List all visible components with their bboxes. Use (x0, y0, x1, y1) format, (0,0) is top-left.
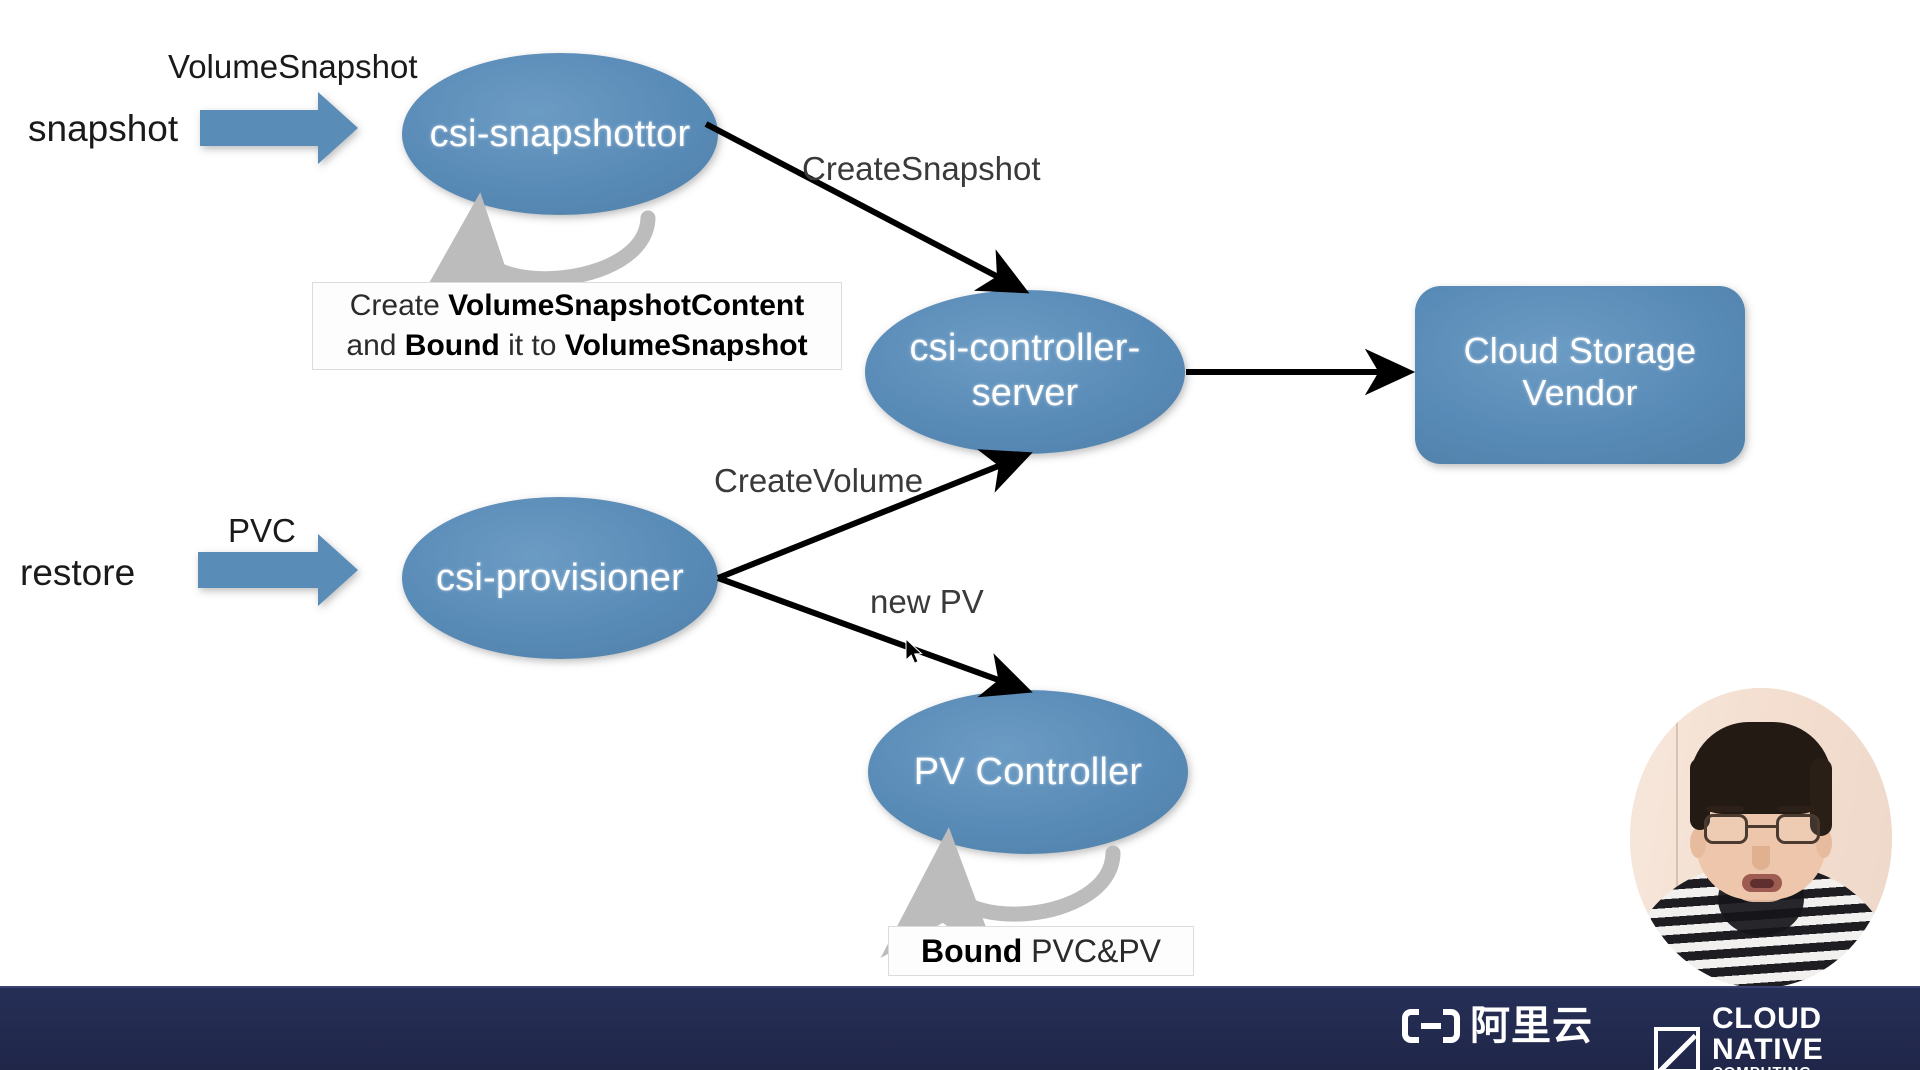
edge-label-create-volume: CreateVolume (714, 462, 923, 500)
cncf-wordmark: CLOUD NATIVE COMPUTING FOUNDATION (1712, 1004, 1920, 1070)
alibaba-cloud-dash-icon (1421, 1023, 1441, 1029)
edge-label-create-snapshot: CreateSnapshot (802, 150, 1041, 188)
cncf-logo: CLOUD NATIVE COMPUTING FOUNDATION (1654, 1004, 1920, 1070)
callout-line2-prefix: and (346, 329, 404, 362)
node-csi-snapshotter (402, 53, 718, 215)
webcam-wall-seam (1676, 688, 1678, 898)
callout-bound-pvc-pv: Bound PVC&PV (888, 926, 1194, 976)
presenter-glasses (1702, 814, 1822, 844)
callout-line1-bold: VolumeSnapshotContent (448, 289, 804, 322)
flow-label-restore: restore (20, 552, 135, 594)
glasses-lens-left (1704, 814, 1748, 844)
callout-bound-rest: PVC&PV (1022, 933, 1161, 969)
cncf-mark-icon (1654, 1027, 1700, 1070)
mouse-cursor-icon (905, 638, 925, 666)
alibaba-cloud-logo: 阿里云 (1402, 1006, 1593, 1046)
glasses-bridge (1748, 825, 1776, 828)
node-cloud-storage-vendor (1415, 286, 1745, 464)
footer-brand-bar: 阿里云 CLOUD NATIVE COMPUTING FOUNDATION (0, 986, 1920, 1070)
presentation-slide: snapshot VolumeSnapshot restore PVC Crea… (0, 0, 1920, 1070)
presenter-nose (1752, 846, 1770, 870)
arrow-label-pvc: PVC (228, 512, 296, 550)
edge-create-snapshot (706, 124, 1023, 290)
loop-arrow-snapshotter (476, 218, 648, 279)
snapshot-block-arrow (200, 92, 358, 164)
callout-line-2: and Bound it to VolumeSnapshot (346, 326, 807, 366)
presenter-webcam-bubble (1630, 688, 1892, 988)
node-csi-controller-server (865, 290, 1185, 454)
callout-line1-prefix: Create (350, 289, 448, 322)
callout-line2-bold-2: VolumeSnapshot (565, 329, 808, 362)
callout-bound-line: Bound PVC&PV (921, 930, 1161, 972)
loop-arrow-pv-controller (946, 853, 1113, 914)
glasses-lens-right (1776, 814, 1820, 844)
callout-bound-bold: Bound (921, 933, 1022, 969)
edge-label-new-pv: new PV (870, 583, 984, 621)
cncf-wordmark-line1: CLOUD NATIVE (1712, 1004, 1920, 1065)
arrow-label-volumesnapshot: VolumeSnapshot (168, 48, 418, 86)
node-pv-controller (868, 690, 1188, 854)
callout-line2-mid: it to (500, 329, 565, 362)
alibaba-cloud-bracket-icon (1402, 1009, 1460, 1043)
alibaba-cloud-wordmark: 阿里云 (1470, 1006, 1593, 1046)
callout-line-1: Create VolumeSnapshotContent (350, 286, 805, 326)
cncf-wordmark-line2: COMPUTING FOUNDATION (1712, 1065, 1920, 1070)
node-csi-provisioner (402, 497, 718, 659)
flow-label-snapshot: snapshot (28, 108, 178, 150)
presenter-mouth-inner (1750, 879, 1774, 888)
presenter-eyebrow-left (1706, 806, 1744, 812)
callout-create-volumesnapshotcontent: Create VolumeSnapshotContent and Bound i… (312, 282, 842, 370)
callout-line2-bold-1: Bound (405, 329, 500, 362)
presenter-eyebrow-right (1778, 806, 1816, 812)
